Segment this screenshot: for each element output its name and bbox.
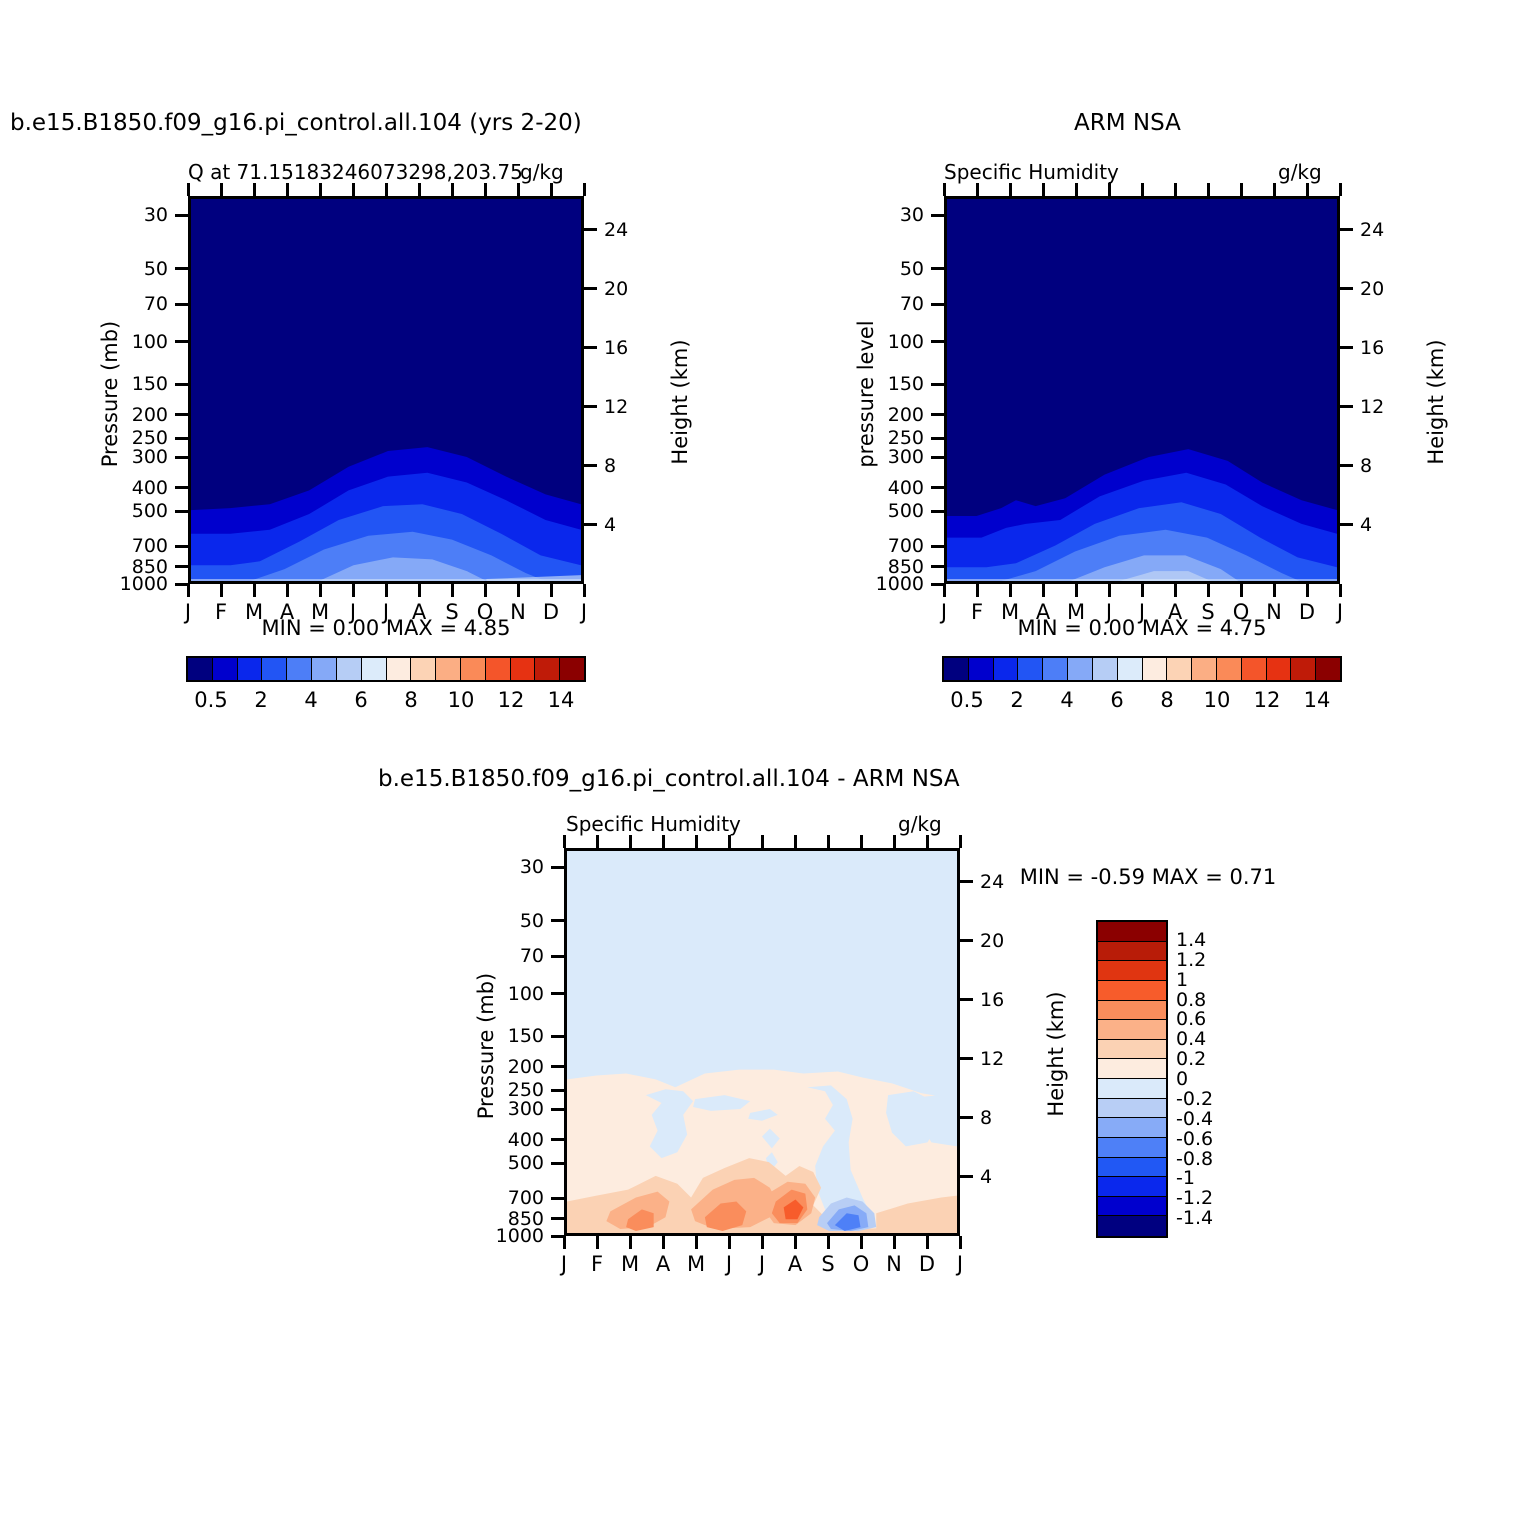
diff-colorbar-tick-label: -1 <box>1176 1167 1195 1189</box>
obs-colorbar-swatch <box>1192 658 1217 680</box>
diff-tick-left-8 <box>551 1138 564 1141</box>
model-height-label: 20 <box>604 278 654 300</box>
obs-colorbar-tick-label: 14 <box>1304 688 1331 712</box>
model-pressure-label: 150 <box>93 373 168 395</box>
obs-tick-left-1 <box>931 267 944 270</box>
diff-colorbar-swatch <box>1098 1079 1166 1099</box>
model-tick-left-8 <box>175 486 188 489</box>
model-tick-top-4 <box>319 183 322 196</box>
diff-plot-area <box>564 848 960 1236</box>
model-panel-title: b.e15.B1850.f09_g16.pi_control.all.104 (… <box>10 110 582 136</box>
model-pressure-label: 400 <box>93 477 168 499</box>
obs-pressure-label: 300 <box>849 446 924 468</box>
diff-month-label: J <box>561 1252 567 1276</box>
model-colorbar-swatch <box>362 658 387 680</box>
obs-month-label: N <box>1266 600 1282 624</box>
diff-colorbar-tick-label: 0.4 <box>1176 1028 1206 1050</box>
model-colorbar-swatch <box>238 658 263 680</box>
obs-tick-top-4 <box>1075 183 1078 196</box>
obs-colorbar-swatch <box>1093 658 1118 680</box>
obs-tick-left-10 <box>931 545 944 548</box>
diff-tick-left-6 <box>551 1089 564 1092</box>
model-colorbar-swatch <box>461 658 486 680</box>
diff-tick-bottom-2 <box>629 1236 632 1249</box>
obs-month-label: S <box>1201 600 1214 624</box>
obs-tick-left-5 <box>931 413 944 416</box>
model-month-label: S <box>445 600 458 624</box>
model-tick-left-2 <box>175 303 188 306</box>
obs-tick-top-2 <box>1009 183 1012 196</box>
model-colorbar-swatch <box>411 658 436 680</box>
obs-height-label: 24 <box>1360 219 1410 241</box>
obs-tick-bottom-0 <box>943 584 946 597</box>
obs-colorbar-swatch <box>1242 658 1267 680</box>
diff-tick-top-9 <box>860 835 863 848</box>
diff-month-label: F <box>591 1252 603 1276</box>
diff-tick-top-6 <box>761 835 764 848</box>
model-height-label: 24 <box>604 219 654 241</box>
diff-contour-field <box>567 851 957 1233</box>
model-subtitle-units: g/kg <box>520 160 564 184</box>
diff-month-label: J <box>726 1252 732 1276</box>
obs-panel-title: ARM NSA <box>1074 110 1181 136</box>
obs-tick-left-8 <box>931 486 944 489</box>
diff-tick-right-5 <box>960 1175 973 1178</box>
model-tick-left-7 <box>175 456 188 459</box>
diff-tick-bottom-12 <box>959 1236 962 1249</box>
obs-month-label: M <box>1067 600 1085 624</box>
diff-tick-right-1 <box>960 939 973 942</box>
diff-tick-bottom-10 <box>893 1236 896 1249</box>
diff-height-label: 16 <box>980 989 1030 1011</box>
obs-tick-top-12 <box>1339 183 1342 196</box>
diff-tick-bottom-9 <box>860 1236 863 1249</box>
model-colorbar-swatch <box>312 658 337 680</box>
obs-tick-top-8 <box>1207 183 1210 196</box>
model-tick-bottom-2 <box>253 584 256 597</box>
diff-colorbar-swatch <box>1098 1040 1166 1060</box>
obs-tick-bottom-8 <box>1207 584 1210 597</box>
diff-pressure-label: 30 <box>469 856 544 878</box>
obs-tick-left-9 <box>931 510 944 513</box>
diff-tick-top-3 <box>662 835 665 848</box>
obs-colorbar-swatch <box>1018 658 1043 680</box>
model-tick-bottom-6 <box>385 584 388 597</box>
obs-tick-left-0 <box>931 214 944 217</box>
obs-colorbar-swatch <box>994 658 1019 680</box>
obs-colorbar-tick-label: 12 <box>1254 688 1281 712</box>
obs-pressure-label: 50 <box>849 258 924 280</box>
model-tick-bottom-9 <box>484 584 487 597</box>
model-contour-field <box>191 199 581 581</box>
obs-subtitle-variable: Specific Humidity <box>944 160 1119 184</box>
diff-tick-top-8 <box>827 835 830 848</box>
diff-colorbar-tick-label: -1.4 <box>1176 1207 1213 1229</box>
diff-tick-left-9 <box>551 1162 564 1165</box>
obs-month-label: J <box>1106 600 1112 624</box>
diff-colorbar-tick-label: 1.2 <box>1176 949 1206 971</box>
obs-month-label: A <box>1036 600 1050 624</box>
obs-pressure-label: 100 <box>849 331 924 353</box>
obs-tick-right-0 <box>1340 228 1353 231</box>
model-month-label: O <box>477 600 494 624</box>
model-tick-left-5 <box>175 413 188 416</box>
model-tick-top-3 <box>286 183 289 196</box>
obs-tick-bottom-4 <box>1075 584 1078 597</box>
model-tick-bottom-10 <box>517 584 520 597</box>
model-tick-right-5 <box>584 523 597 526</box>
model-tick-top-9 <box>484 183 487 196</box>
model-tick-bottom-5 <box>352 584 355 597</box>
diff-height-label: 20 <box>980 930 1030 952</box>
obs-tick-right-4 <box>1340 464 1353 467</box>
diff-colorbar <box>1096 920 1168 1238</box>
model-month-label: A <box>412 600 426 624</box>
model-month-label: J <box>350 600 356 624</box>
diff-tick-bottom-6 <box>761 1236 764 1249</box>
diff-colorbar-tick-label: -0.2 <box>1176 1088 1213 1110</box>
model-height-label: 12 <box>604 396 654 418</box>
diff-tick-bottom-4 <box>695 1236 698 1249</box>
model-colorbar-tick-label: 2 <box>254 688 267 712</box>
obs-tick-top-5 <box>1108 183 1111 196</box>
diff-tick-top-2 <box>629 835 632 848</box>
obs-tick-bottom-12 <box>1339 584 1342 597</box>
diff-colorbar-tick-label: 0 <box>1176 1068 1188 1090</box>
obs-tick-top-9 <box>1240 183 1243 196</box>
diff-tick-top-11 <box>926 835 929 848</box>
obs-pressure-label: 200 <box>849 404 924 426</box>
diff-tick-right-2 <box>960 998 973 1001</box>
obs-height-label: 8 <box>1360 455 1410 477</box>
diff-pressure-label: 500 <box>469 1152 544 1174</box>
diff-tick-bottom-11 <box>926 1236 929 1249</box>
diff-colorbar-tick-label: 0.2 <box>1176 1048 1206 1070</box>
diff-height-label: 24 <box>980 871 1030 893</box>
model-month-label: F <box>215 600 227 624</box>
model-tick-top-10 <box>517 183 520 196</box>
diff-tick-top-7 <box>794 835 797 848</box>
model-pressure-label: 200 <box>93 404 168 426</box>
model-tick-right-2 <box>584 346 597 349</box>
obs-tick-top-3 <box>1042 183 1045 196</box>
obs-month-label: J <box>1337 600 1343 624</box>
model-tick-left-1 <box>175 267 188 270</box>
diff-colorbar-swatch <box>1098 1001 1166 1021</box>
model-month-label: J <box>581 600 587 624</box>
model-tick-bottom-3 <box>286 584 289 597</box>
obs-month-label: D <box>1299 600 1315 624</box>
diff-tick-right-3 <box>960 1057 973 1060</box>
obs-tick-bottom-3 <box>1042 584 1045 597</box>
diff-tick-top-0 <box>563 835 566 848</box>
obs-tick-bottom-10 <box>1273 584 1276 597</box>
diff-month-label: O <box>853 1252 870 1276</box>
obs-pressure-label: 30 <box>849 204 924 226</box>
diff-tick-top-1 <box>596 835 599 848</box>
obs-tick-left-12 <box>931 583 944 586</box>
obs-pressure-label: 400 <box>849 477 924 499</box>
model-pressure-label: 100 <box>93 331 168 353</box>
diff-tick-left-4 <box>551 1035 564 1038</box>
diff-month-label: A <box>788 1252 802 1276</box>
diff-colorbar-swatch <box>1098 1020 1166 1040</box>
model-tick-right-4 <box>584 464 597 467</box>
diff-colorbar-labels: 1.41.210.80.60.40.20-0.2-0.4-0.6-0.8-1-1… <box>1176 920 1246 1238</box>
model-colorbar-swatch <box>511 658 536 680</box>
diff-colorbar-tick-label: 1 <box>1176 969 1188 991</box>
diff-tick-bottom-7 <box>794 1236 797 1249</box>
diff-pressure-label: 100 <box>469 983 544 1005</box>
obs-pressure-label: 70 <box>849 293 924 315</box>
diff-tick-top-10 <box>893 835 896 848</box>
model-plot-area <box>188 196 584 584</box>
diff-colorbar-swatch <box>1098 922 1166 942</box>
obs-tick-bottom-1 <box>976 584 979 597</box>
diff-colorbar-swatch <box>1098 1138 1166 1158</box>
model-colorbar <box>186 656 586 682</box>
model-tick-top-6 <box>385 183 388 196</box>
obs-colorbar-swatch <box>1267 658 1292 680</box>
model-tick-left-0 <box>175 214 188 217</box>
model-tick-top-12 <box>583 183 586 196</box>
diff-month-label: D <box>919 1252 935 1276</box>
model-colorbar-swatch <box>436 658 461 680</box>
obs-month-label: A <box>1168 600 1182 624</box>
model-month-label: D <box>543 600 559 624</box>
obs-tick-left-2 <box>931 303 944 306</box>
diff-panel-title: b.e15.B1850.f09_g16.pi_control.all.104 -… <box>378 766 960 792</box>
model-tick-top-1 <box>220 183 223 196</box>
model-colorbar-swatch <box>262 658 287 680</box>
obs-tick-left-4 <box>931 383 944 386</box>
diff-pressure-label: 400 <box>469 1129 544 1151</box>
obs-colorbar-swatch <box>969 658 994 680</box>
model-pressure-label: 30 <box>93 204 168 226</box>
model-month-label: N <box>510 600 526 624</box>
model-colorbar-swatch <box>188 658 213 680</box>
diff-colorbar-swatch <box>1098 1197 1166 1217</box>
obs-tick-bottom-6 <box>1141 584 1144 597</box>
diff-pressure-label: 150 <box>469 1025 544 1047</box>
diff-colorbar-swatch <box>1098 1118 1166 1138</box>
diff-tick-bottom-0 <box>563 1236 566 1249</box>
obs-height-label: 4 <box>1360 514 1410 536</box>
diff-tick-left-0 <box>551 866 564 869</box>
diff-colorbar-tick-label: -0.8 <box>1176 1148 1213 1170</box>
model-tick-right-1 <box>584 287 597 290</box>
diff-colorbar-swatch <box>1098 1177 1166 1197</box>
model-pressure-label: 700 <box>93 535 168 557</box>
diff-height-label: 4 <box>980 1166 1030 1188</box>
model-tick-bottom-0 <box>187 584 190 597</box>
obs-month-label: O <box>1233 600 1250 624</box>
obs-pressure-label: 150 <box>849 373 924 395</box>
model-tick-top-7 <box>418 183 421 196</box>
obs-colorbar <box>942 656 1342 682</box>
diff-colorbar-swatch <box>1098 981 1166 1001</box>
diff-colorbar-swatch <box>1098 942 1166 962</box>
obs-tick-right-1 <box>1340 287 1353 290</box>
obs-tick-top-6 <box>1141 183 1144 196</box>
obs-tick-top-1 <box>976 183 979 196</box>
obs-tick-bottom-11 <box>1306 584 1309 597</box>
obs-colorbar-tick-label: 8 <box>1160 688 1173 712</box>
diff-month-label: M <box>621 1252 639 1276</box>
model-tick-left-6 <box>175 437 188 440</box>
model-colorbar-tick-label: 10 <box>448 688 475 712</box>
model-colorbar-swatch <box>486 658 511 680</box>
diff-tick-left-12 <box>551 1235 564 1238</box>
obs-colorbar-tick-label: 4 <box>1060 688 1073 712</box>
model-tick-left-3 <box>175 340 188 343</box>
model-tick-top-8 <box>451 183 454 196</box>
obs-colorbar-swatch <box>1043 658 1068 680</box>
obs-colorbar-tick-label: 6 <box>1110 688 1123 712</box>
obs-month-label: M <box>1001 600 1019 624</box>
model-colorbar-tick-label: 4 <box>304 688 317 712</box>
diff-height-label: 8 <box>980 1107 1030 1129</box>
diff-tick-left-10 <box>551 1197 564 1200</box>
obs-pressure-label: 1000 <box>849 573 924 595</box>
diff-subtitle-variable: Specific Humidity <box>566 812 741 836</box>
obs-tick-left-6 <box>931 437 944 440</box>
diff-colorbar-swatch <box>1098 1216 1166 1236</box>
model-tick-left-4 <box>175 383 188 386</box>
model-tick-bottom-7 <box>418 584 421 597</box>
obs-colorbar-swatch <box>1316 658 1340 680</box>
model-colorbar-labels: 0.52468101214 <box>186 688 586 714</box>
diff-tick-right-0 <box>960 880 973 883</box>
model-month-label: M <box>311 600 329 624</box>
diff-colorbar-swatch <box>1098 1059 1166 1079</box>
obs-colorbar-tick-label: 0.5 <box>950 688 983 712</box>
model-height-label: 16 <box>604 337 654 359</box>
diff-tick-top-12 <box>959 835 962 848</box>
model-tick-top-11 <box>550 183 553 196</box>
diff-month-label: N <box>886 1252 902 1276</box>
diff-minmax-text: MIN = -0.59 MAX = 0.71 <box>1020 865 1277 889</box>
model-pressure-label: 1000 <box>93 573 168 595</box>
model-height-label: 4 <box>604 514 654 536</box>
obs-plot-area <box>944 196 1340 584</box>
diff-pressure-label: 70 <box>469 945 544 967</box>
diff-tick-left-1 <box>551 919 564 922</box>
obs-tick-top-10 <box>1273 183 1276 196</box>
obs-height-label: 20 <box>1360 278 1410 300</box>
diff-tick-bottom-5 <box>728 1236 731 1249</box>
model-month-label: A <box>280 600 294 624</box>
diff-pressure-label: 300 <box>469 1098 544 1120</box>
obs-tick-top-0 <box>943 183 946 196</box>
obs-height-label: 12 <box>1360 396 1410 418</box>
obs-tick-bottom-9 <box>1240 584 1243 597</box>
diff-month-label: A <box>656 1252 670 1276</box>
obs-colorbar-swatch <box>1143 658 1168 680</box>
obs-colorbar-labels: 0.52468101214 <box>942 688 1342 714</box>
obs-tick-top-7 <box>1174 183 1177 196</box>
obs-month-label: F <box>971 600 983 624</box>
model-colorbar-swatch <box>535 658 560 680</box>
obs-tick-right-5 <box>1340 523 1353 526</box>
model-month-label: M <box>245 600 263 624</box>
obs-month-label: J <box>1139 600 1145 624</box>
obs-colorbar-tick-label: 10 <box>1204 688 1231 712</box>
obs-contour-field <box>947 199 1337 581</box>
diff-month-label: S <box>821 1252 834 1276</box>
diff-month-label: J <box>759 1252 765 1276</box>
diff-colorbar-tick-label: -1.2 <box>1176 1187 1213 1209</box>
diff-pressure-label: 50 <box>469 910 544 932</box>
model-tick-bottom-1 <box>220 584 223 597</box>
obs-subtitle-units: g/kg <box>1278 160 1322 184</box>
model-colorbar-tick-label: 0.5 <box>194 688 227 712</box>
model-pressure-label: 300 <box>93 446 168 468</box>
obs-colorbar-swatch <box>1291 658 1316 680</box>
model-colorbar-swatch <box>387 658 412 680</box>
diff-month-label: M <box>687 1252 705 1276</box>
obs-tick-bottom-5 <box>1108 584 1111 597</box>
obs-tick-left-11 <box>931 565 944 568</box>
obs-pressure-label: 700 <box>849 535 924 557</box>
obs-tick-right-2 <box>1340 346 1353 349</box>
diff-height-label: 12 <box>980 1048 1030 1070</box>
obs-tick-left-7 <box>931 456 944 459</box>
diff-colorbar-tick-label: 1.4 <box>1176 929 1206 951</box>
model-colorbar-tick-label: 14 <box>548 688 575 712</box>
model-tick-top-2 <box>253 183 256 196</box>
obs-month-label: J <box>941 600 947 624</box>
diff-tick-left-2 <box>551 955 564 958</box>
diff-tick-left-11 <box>551 1217 564 1220</box>
diff-tick-left-3 <box>551 992 564 995</box>
obs-tick-bottom-7 <box>1174 584 1177 597</box>
diff-colorbar-tick-label: -0.4 <box>1176 1108 1213 1130</box>
obs-pressure-label: 500 <box>849 500 924 522</box>
model-colorbar-tick-label: 12 <box>498 688 525 712</box>
diff-tick-top-4 <box>695 835 698 848</box>
model-tick-left-9 <box>175 510 188 513</box>
obs-height-axis-title: Height (km) <box>1424 292 1448 512</box>
obs-tick-top-11 <box>1306 183 1309 196</box>
obs-tick-bottom-2 <box>1009 584 1012 597</box>
diff-pressure-label: 700 <box>469 1187 544 1209</box>
diff-tick-top-5 <box>728 835 731 848</box>
model-tick-right-3 <box>584 405 597 408</box>
model-pressure-label: 50 <box>93 258 168 280</box>
model-colorbar-swatch <box>560 658 584 680</box>
diff-tick-bottom-3 <box>662 1236 665 1249</box>
model-tick-bottom-12 <box>583 584 586 597</box>
model-tick-left-11 <box>175 565 188 568</box>
diff-month-label: J <box>957 1252 963 1276</box>
model-tick-left-10 <box>175 545 188 548</box>
diff-colorbar-swatch <box>1098 961 1166 981</box>
model-colorbar-swatch <box>337 658 362 680</box>
diff-height-axis-title: Height (km) <box>1044 944 1068 1164</box>
model-tick-bottom-11 <box>550 584 553 597</box>
model-colorbar-swatch <box>287 658 312 680</box>
obs-colorbar-swatch <box>1217 658 1242 680</box>
model-tick-top-5 <box>352 183 355 196</box>
diff-colorbar-tick-label: 0.8 <box>1176 989 1206 1011</box>
model-pressure-label: 500 <box>93 500 168 522</box>
model-tick-left-12 <box>175 583 188 586</box>
model-month-label: J <box>383 600 389 624</box>
diff-pressure-label: 1000 <box>469 1225 544 1247</box>
model-colorbar-tick-label: 8 <box>404 688 417 712</box>
obs-tick-right-3 <box>1340 405 1353 408</box>
